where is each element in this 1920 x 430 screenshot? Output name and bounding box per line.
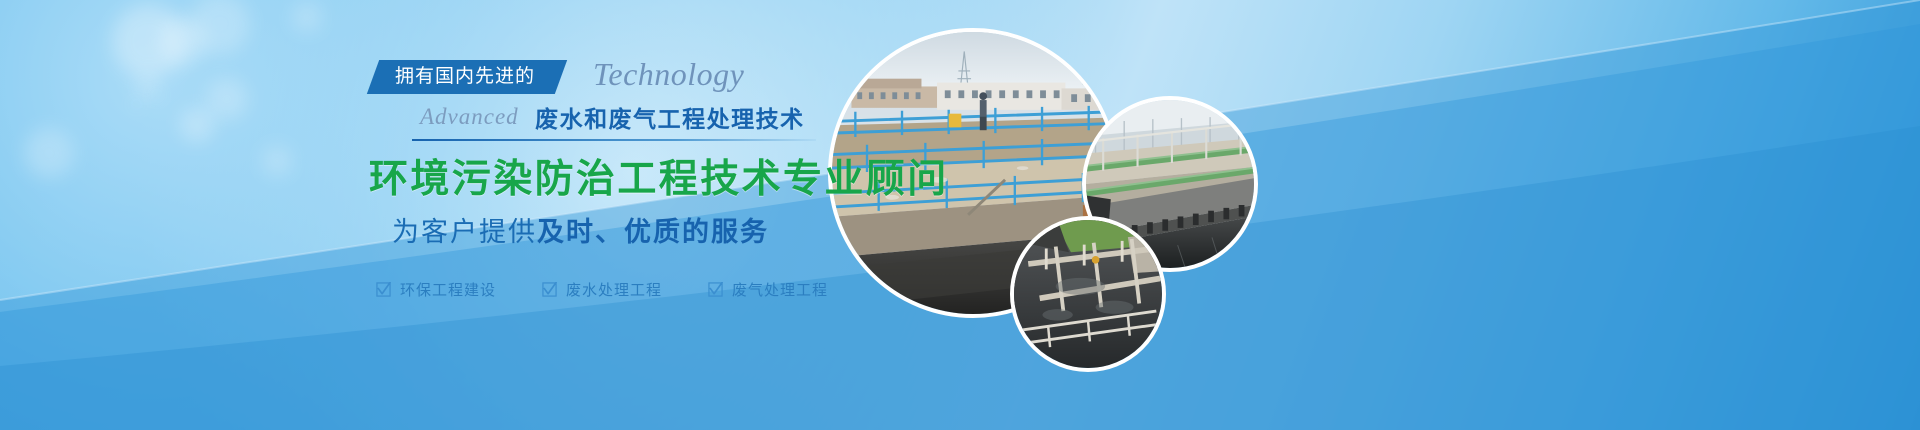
sub-headline-prefix: 为客户提供 — [392, 217, 537, 247]
feature-label: 废水处理工程 — [566, 279, 662, 300]
subtitle-english-word: Advanced — [420, 104, 519, 129]
feature-item-3[interactable]: 废气处理工程 — [708, 279, 828, 300]
tagline-badge-label: 拥有国内先进的 — [395, 60, 535, 94]
sub-headline: 为客户提供及时、优质的服务 — [392, 210, 988, 249]
subtitle-row: Advanced 废水和废气工程处理技术 — [368, 100, 988, 136]
check-icon — [542, 282, 557, 297]
check-icon — [376, 282, 391, 297]
banner-copy: 拥有国内先进的 Technology Advanced 废水和废气工程处理技术 … — [368, 58, 988, 300]
feature-label: 环保工程建设 — [400, 279, 496, 300]
photo-circle-small — [1010, 216, 1166, 372]
clarifier-basin-illustration — [1014, 220, 1162, 368]
sub-headline-emphasis: 及时、优质的服务 — [537, 217, 769, 247]
feature-label: 废气处理工程 — [732, 279, 828, 300]
feature-item-2[interactable]: 废水处理工程 — [542, 279, 662, 300]
hero-banner: 拥有国内先进的 Technology Advanced 废水和废气工程处理技术 … — [0, 0, 1920, 430]
check-icon — [708, 282, 723, 297]
tagline-row: 拥有国内先进的 Technology — [368, 58, 988, 98]
tagline-english-word: Technology — [593, 56, 744, 93]
feature-list: 环保工程建设 废水处理工程 废气处理工程 — [376, 279, 988, 300]
subtitle-chinese-text: 废水和废气工程处理技术 — [535, 106, 805, 132]
page-title: 环境污染防治工程技术专业顾问 — [369, 148, 988, 204]
feature-item-1[interactable]: 环保工程建设 — [376, 279, 496, 300]
tagline-badge: 拥有国内先进的 — [367, 60, 567, 94]
divider-rule — [412, 139, 816, 141]
